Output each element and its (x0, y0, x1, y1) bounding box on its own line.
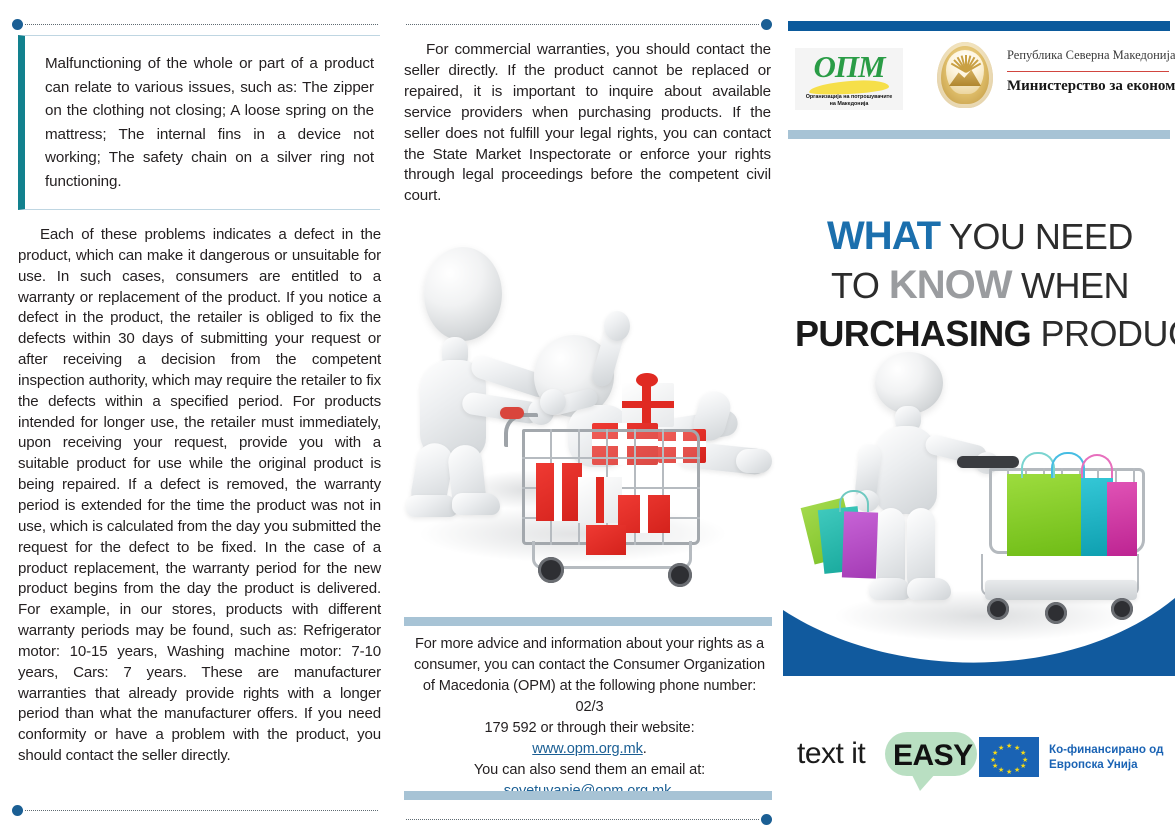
middle-panel: For commercial warranties, you should co… (392, 0, 783, 830)
contact-line-5: You can also send them an email at: (408, 760, 771, 781)
opm-subtitle: Организација на потрошувачите на Македон… (795, 94, 903, 108)
top-dotted-rule (12, 17, 380, 31)
government-line-1: Република Северна Македонија (1007, 48, 1175, 63)
bullet-dot-icon (761, 814, 772, 825)
shopping-cart-gifts-illustration (400, 205, 775, 605)
dotted-line (406, 819, 759, 820)
cover-second-bar (788, 130, 1170, 139)
middle-body-text: For commercial warranties, you should co… (404, 40, 771, 207)
contact-line-4: 179 592 or through their website: (408, 718, 771, 739)
opm-subtitle-line2: на Македонија (830, 101, 869, 107)
callout-text: Malfunctioning of the whole or part of a… (45, 52, 374, 193)
contact-website-row: www.opm.org.mk. (408, 739, 771, 760)
government-logo: Република Северна Македонија Министерств… (935, 40, 1170, 112)
contact-divider-bottom (404, 791, 772, 800)
callout-box: Malfunctioning of the whole or part of a… (18, 35, 380, 210)
dotted-line (25, 24, 378, 25)
bullet-dot-icon (12, 805, 23, 816)
government-divider (1007, 71, 1169, 72)
bottom-dotted-rule (404, 812, 772, 826)
opm-subtitle-line1: Организација на потрошувачите (806, 94, 893, 100)
eu-flag-icon: ★ ★ ★ ★ ★ ★ ★ ★ ★ ★ ★ ★ (979, 737, 1039, 777)
shopper-with-bags-illustration (793, 340, 1173, 660)
opm-logo: ОПМ Организација на потрошувачите на Мак… (795, 48, 903, 110)
contact-divider-top (404, 617, 772, 626)
text-it-label: text it (797, 737, 865, 771)
website-period: . (643, 741, 647, 757)
contact-line-3: of Macedonia (OPM) at the following phon… (408, 676, 771, 718)
brochure-page: Malfunctioning of the whole or part of a… (0, 0, 1175, 830)
title-what: WHAT (827, 214, 940, 258)
bottom-dotted-rule (12, 803, 380, 817)
cover-top-bar (788, 21, 1170, 31)
easy-label: EASY (893, 739, 973, 773)
eu-text-line-1: Ко-финансирано од (1049, 743, 1163, 756)
left-body-text-block: Each of these problems indicates a defec… (18, 225, 381, 767)
contact-information: For more advice and information about yo… (408, 634, 771, 802)
left-body-text: Each of these problems indicates a defec… (18, 225, 381, 767)
eu-text-line-2: Европска Унија (1049, 758, 1138, 771)
title-when: WHEN (1011, 265, 1129, 306)
coat-of-arms-icon (935, 40, 995, 110)
text-it-easy-logo: text it EASY (797, 735, 977, 783)
website-link[interactable]: www.opm.org.mk (532, 741, 643, 757)
right-panel-cover: ОПМ Организација на потрошувачите на Мак… (783, 0, 1175, 830)
eu-cofunding-text: Ко-финансирано од Европска Унија (1049, 742, 1163, 772)
title-line-1: WHAT YOU NEED (795, 216, 1165, 265)
government-line-2: Министерство за економија (1007, 78, 1175, 95)
eu-cofunding-logo: ★ ★ ★ ★ ★ ★ ★ ★ ★ ★ ★ ★ Ко-финансирано о… (979, 735, 1169, 777)
bullet-dot-icon (761, 19, 772, 30)
left-panel: Malfunctioning of the whole or part of a… (0, 0, 392, 830)
dotted-line (406, 24, 759, 25)
speech-bubble-tail-icon (911, 773, 936, 791)
title-you-need: YOU NEED (940, 216, 1133, 257)
title-to: TO (831, 265, 889, 306)
title-line-2: TO KNOW WHEN (795, 265, 1165, 314)
top-dotted-rule (404, 17, 772, 31)
contact-line-2: consumer, you can contact the Consumer O… (408, 655, 771, 676)
contact-line-1: For more advice and information about yo… (408, 634, 771, 655)
dotted-line (25, 810, 378, 811)
bullet-dot-icon (12, 19, 23, 30)
middle-body-text-block: For commercial warranties, you should co… (404, 40, 771, 207)
title-know: KNOW (889, 263, 1012, 307)
